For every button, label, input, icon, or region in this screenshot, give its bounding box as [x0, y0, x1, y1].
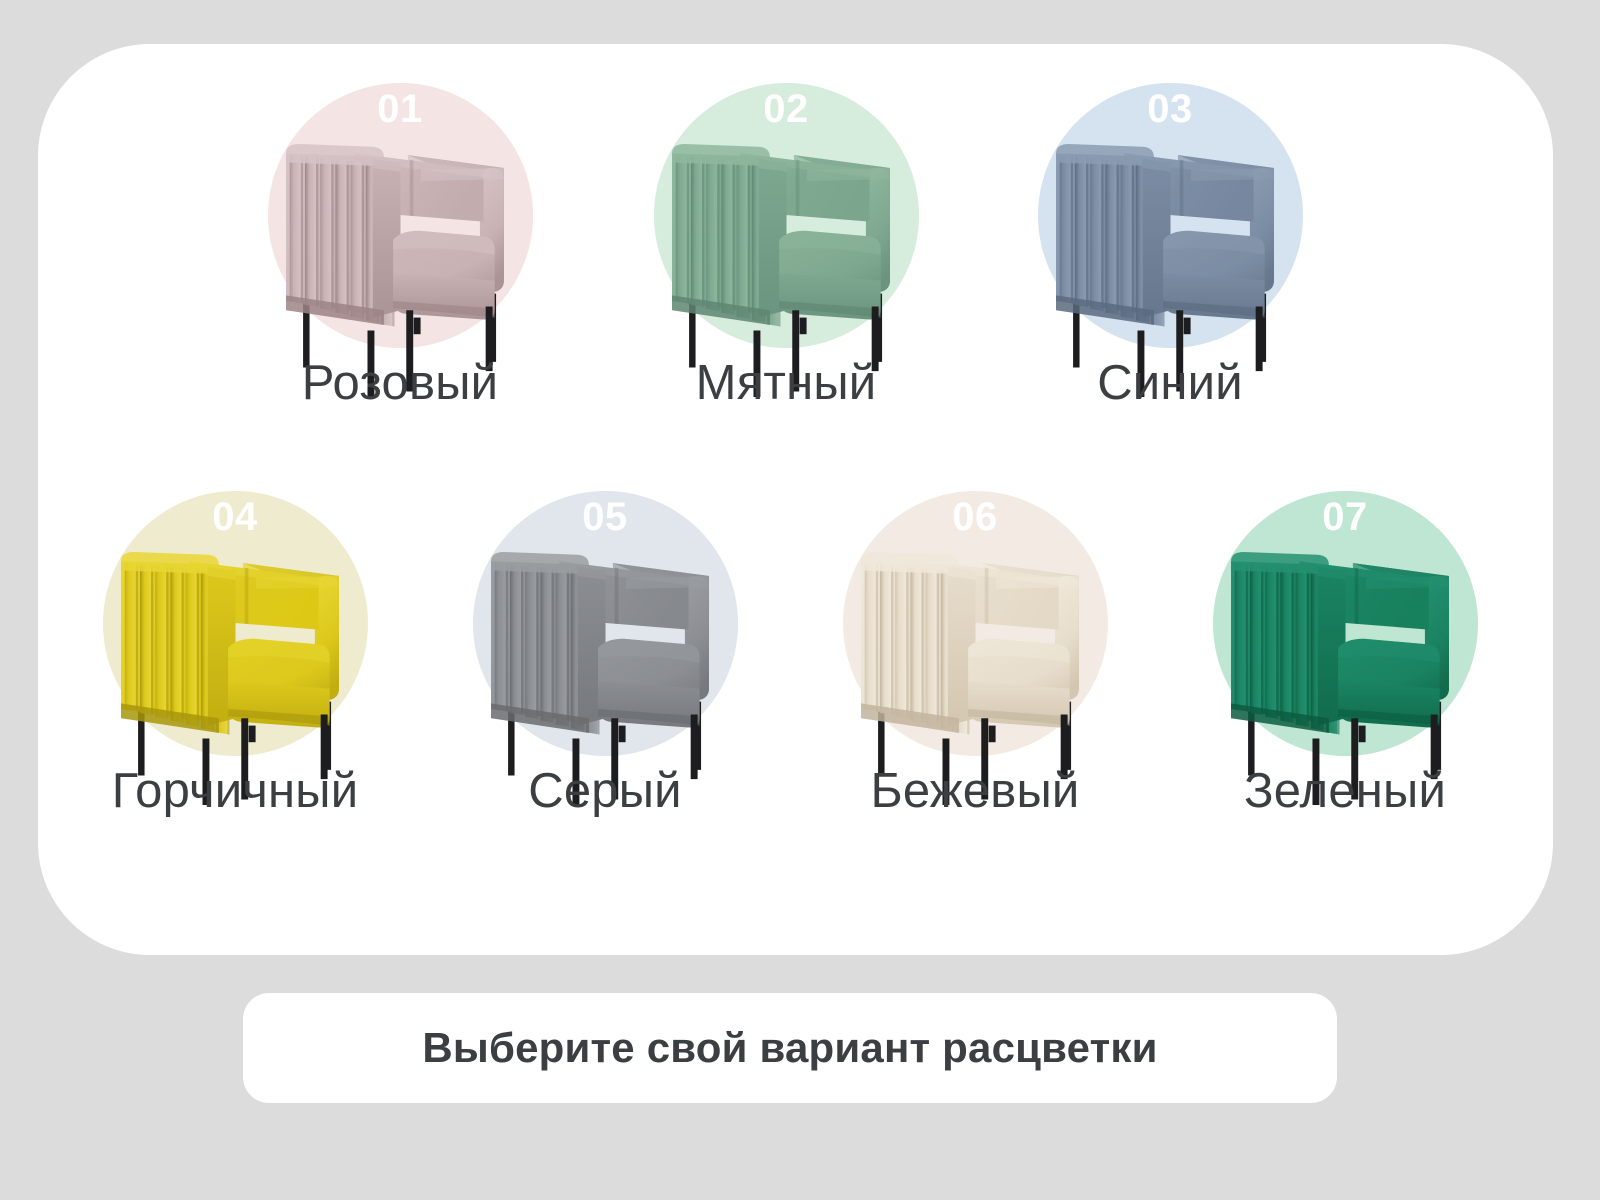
color-option-05[interactable]: 05 [473, 491, 738, 756]
swatch-color-label: Серый [528, 763, 681, 819]
poster-stage: 01 [0, 0, 1600, 1200]
swatch-color-label: Зеленый [1244, 763, 1446, 819]
color-option-04[interactable]: 04 [103, 491, 368, 756]
color-option-03[interactable]: 03 [1038, 83, 1303, 348]
color-swatch-grid: 01 [38, 44, 1553, 955]
swatch-number-badge: 06 [843, 497, 1108, 537]
swatch-color-label: Горчичный [112, 763, 359, 819]
swatch-number-badge: 05 [473, 497, 738, 537]
swatch-number-badge: 01 [268, 89, 533, 129]
swatch-number-badge: 07 [1213, 497, 1478, 537]
swatch-color-label: Мятный [696, 355, 877, 411]
color-options-card: 01 [38, 44, 1553, 955]
cta-banner-text: Выберите свой вариант расцветки [422, 1024, 1157, 1072]
cta-banner[interactable]: Выберите свой вариант расцветки [243, 993, 1337, 1103]
swatch-number-badge: 04 [103, 497, 368, 537]
color-option-07[interactable]: 07 [1213, 491, 1478, 756]
color-option-06[interactable]: 06 [843, 491, 1108, 756]
swatch-number-badge: 03 [1038, 89, 1303, 129]
color-option-01[interactable]: 01 [268, 83, 533, 348]
color-option-02[interactable]: 02 [654, 83, 919, 348]
swatch-number-badge: 02 [654, 89, 919, 129]
swatch-color-label: Розовый [302, 355, 498, 411]
swatch-color-label: Бежевый [871, 763, 1080, 819]
swatch-color-label: Синий [1097, 355, 1243, 411]
